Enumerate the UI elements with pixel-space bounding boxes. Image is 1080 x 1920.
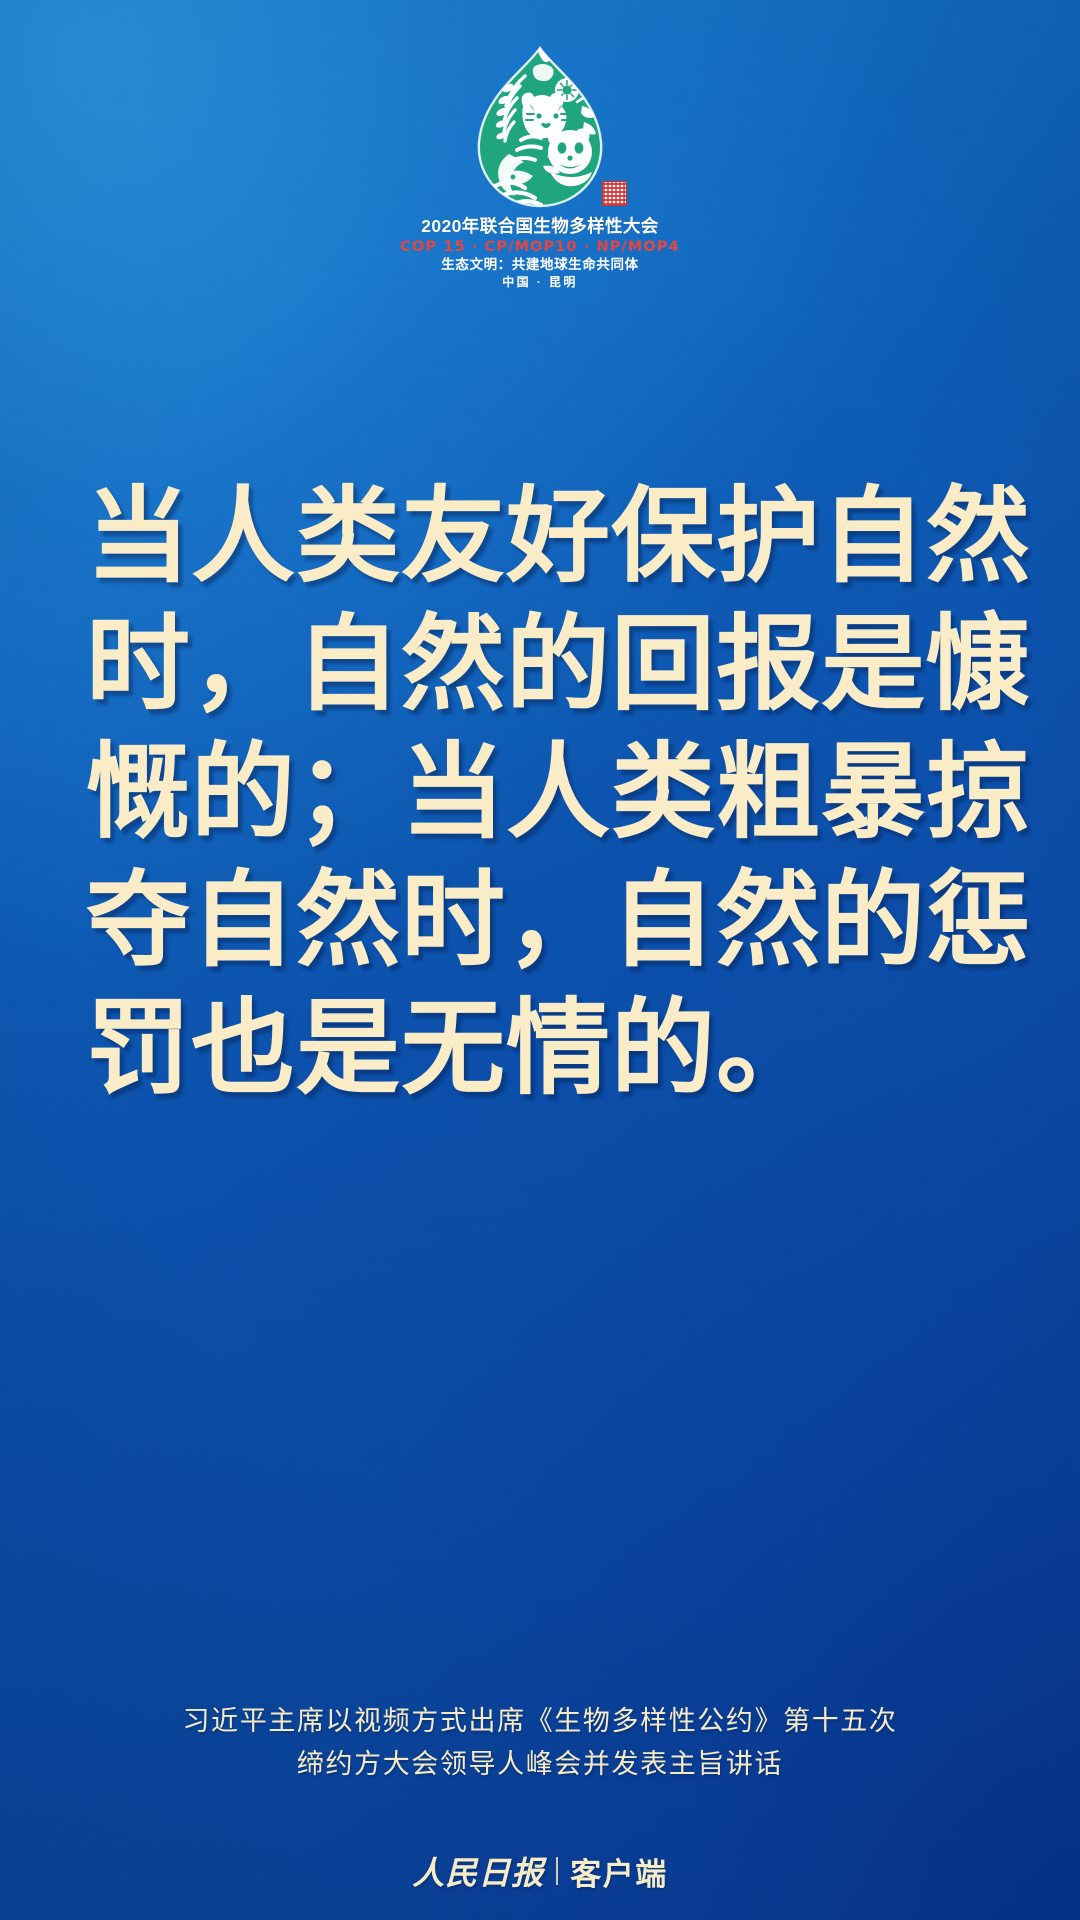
headline-line: 夺自然时，自然的惩 [86,856,1002,984]
headline-line: 罚也是无情的。 [86,984,1002,1112]
emblem-line-location: 中国 · 昆明 [400,276,679,290]
cop15-emblem-icon [451,44,629,212]
footer-divider [556,1857,558,1885]
headline-quote: 当人类友好保护自然 时，自然的回报是慷 慨的；当人类粗暴掠 夺自然时，自然的惩 … [86,472,1002,1112]
emblem-line-theme: 生态文明：共建地球生命共同体 [400,257,679,272]
emblem-block: 2020年联合国生物多样性大会 COP 15 · CP/MOP10 · NP/M… [0,44,1080,290]
caption-line: 缔约方大会领导人峰会并发表主旨讲话 [0,1743,1080,1786]
emblem-line-conference-name: 2020年联合国生物多样性大会 [400,217,679,237]
peoples-daily-wordmark: 人民日报 [412,1848,544,1894]
caption-line: 习近平主席以视频方式出席《生物多样性公约》第十五次 [0,1700,1080,1743]
poster-canvas: 2020年联合国生物多样性大会 COP 15 · CP/MOP10 · NP/M… [0,0,1080,1920]
caption-block: 习近平主席以视频方式出席《生物多样性公约》第十五次 缔约方大会领导人峰会并发表主… [0,1700,1080,1786]
emblem-text-lines: 2020年联合国生物多样性大会 COP 15 · CP/MOP10 · NP/M… [400,217,679,290]
headline-line: 时，自然的回报是慷 [86,600,1002,728]
headline-line: 当人类友好保护自然 [86,472,1002,600]
chinese-seal-icon [602,181,627,206]
app-client-label: 客户端 [570,1849,668,1894]
footer-brand-logo: 人民日报 客户端 [0,1848,1080,1894]
emblem-line-cop-code: COP 15 · CP/MOP10 · NP/MOP4 [400,239,679,256]
headline-line: 慨的；当人类粗暴掠 [86,728,1002,856]
